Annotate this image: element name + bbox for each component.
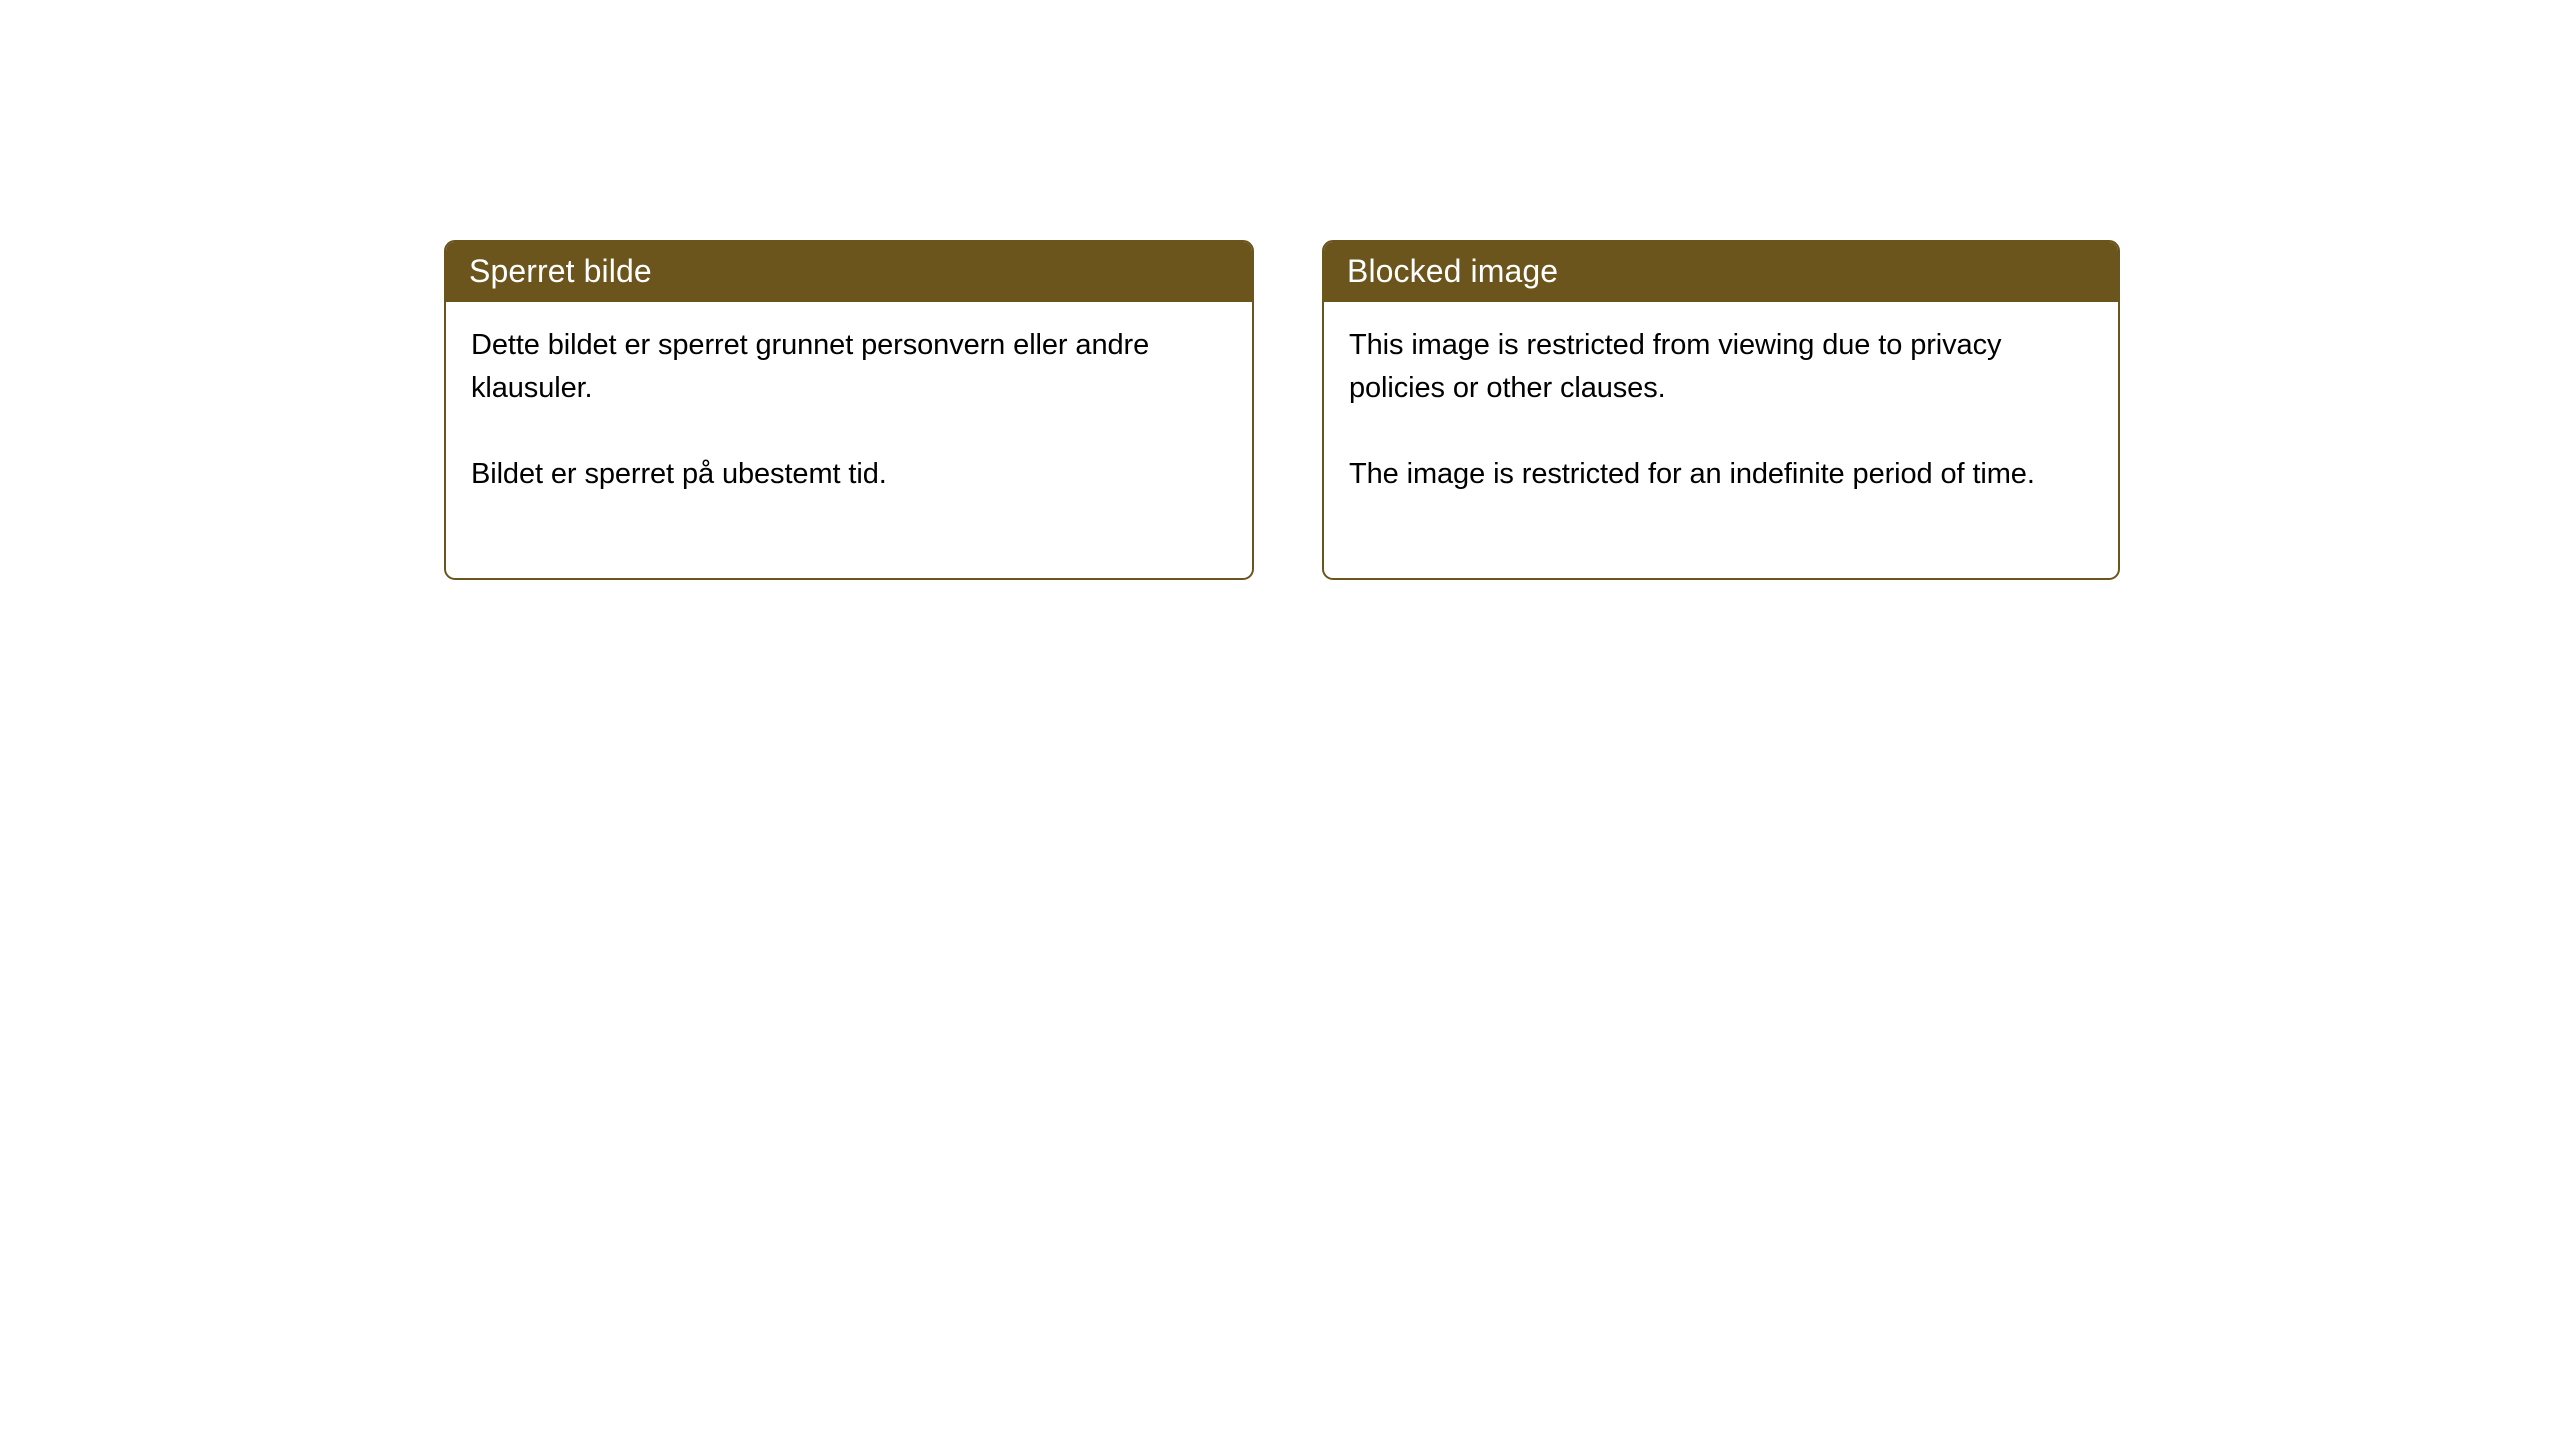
card-header-english: Blocked image: [1322, 240, 2120, 302]
card-title-english: Blocked image: [1347, 255, 1558, 287]
blocked-image-notice-card-norwegian: Sperret bilde Dette bildet er sperret gr…: [444, 240, 1254, 580]
blocked-image-notice-card-english: Blocked image This image is restricted f…: [1322, 240, 2120, 580]
card-header-norwegian: Sperret bilde: [444, 240, 1254, 302]
card-paragraph-norwegian-1: Dette bildet er sperret grunnet personve…: [471, 324, 1211, 410]
card-paragraph-english-1: This image is restricted from viewing du…: [1349, 324, 2089, 410]
card-body-english: This image is restricted from viewing du…: [1324, 302, 2118, 496]
card-paragraph-english-2: The image is restricted for an indefinit…: [1349, 453, 2089, 496]
card-paragraph-norwegian-2: Bildet er sperret på ubestemt tid.: [471, 453, 1211, 496]
card-title-norwegian: Sperret bilde: [469, 255, 652, 287]
page-root: Sperret bilde Dette bildet er sperret gr…: [0, 0, 2560, 1440]
card-body-norwegian: Dette bildet er sperret grunnet personve…: [446, 302, 1252, 496]
